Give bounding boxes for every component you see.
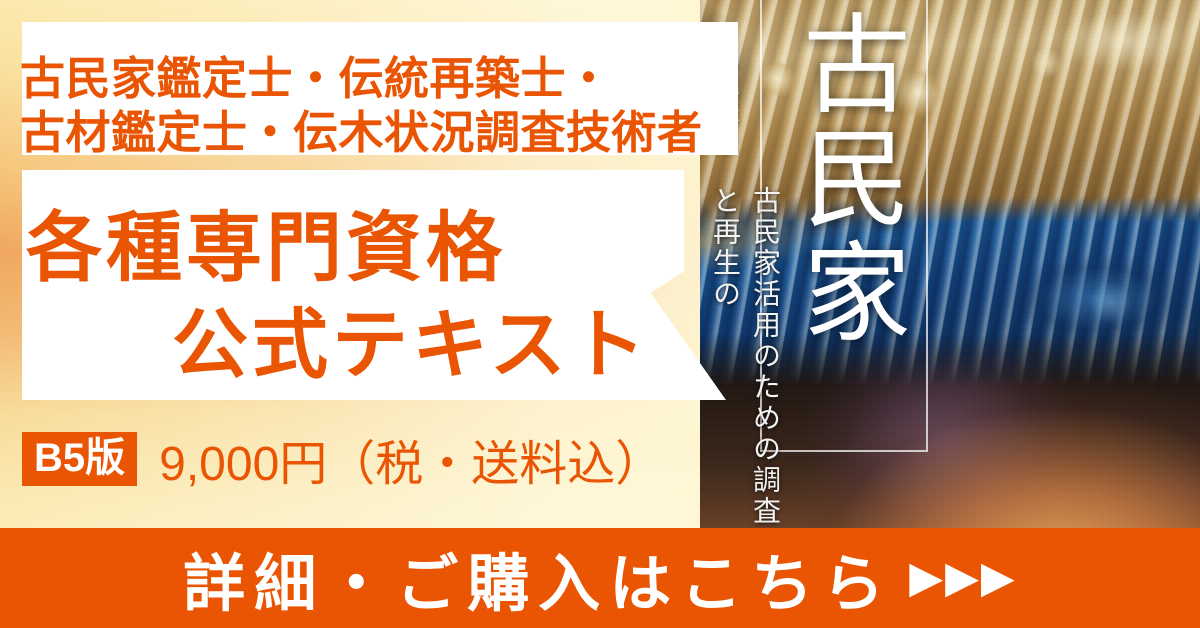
cta-label: 詳細・ご購入はこちら — [183, 533, 893, 623]
main-title-line-1: 各種専門資格 — [26, 186, 506, 296]
main-title-line-2: 公式テキスト — [172, 283, 650, 393]
header-line-2: 古材鑑定士・伝木状況調査技術者 — [20, 96, 703, 161]
price-row: B5版 9,000円（税・送料込） — [22, 428, 663, 490]
chevron-right-triple-icon: ▶▶▶ — [909, 556, 1017, 600]
cta-button[interactable]: 詳細・ご購入はこちら ▶▶▶ — [0, 528, 1200, 628]
price-amount: 9,000円（税・送料込） — [159, 424, 663, 494]
format-badge: B5版 — [22, 432, 137, 487]
book-cover-title: 古民家 — [792, 8, 912, 350]
book-cover-subtitle-left: 古民家活用のための調査と再生の — [704, 186, 784, 546]
